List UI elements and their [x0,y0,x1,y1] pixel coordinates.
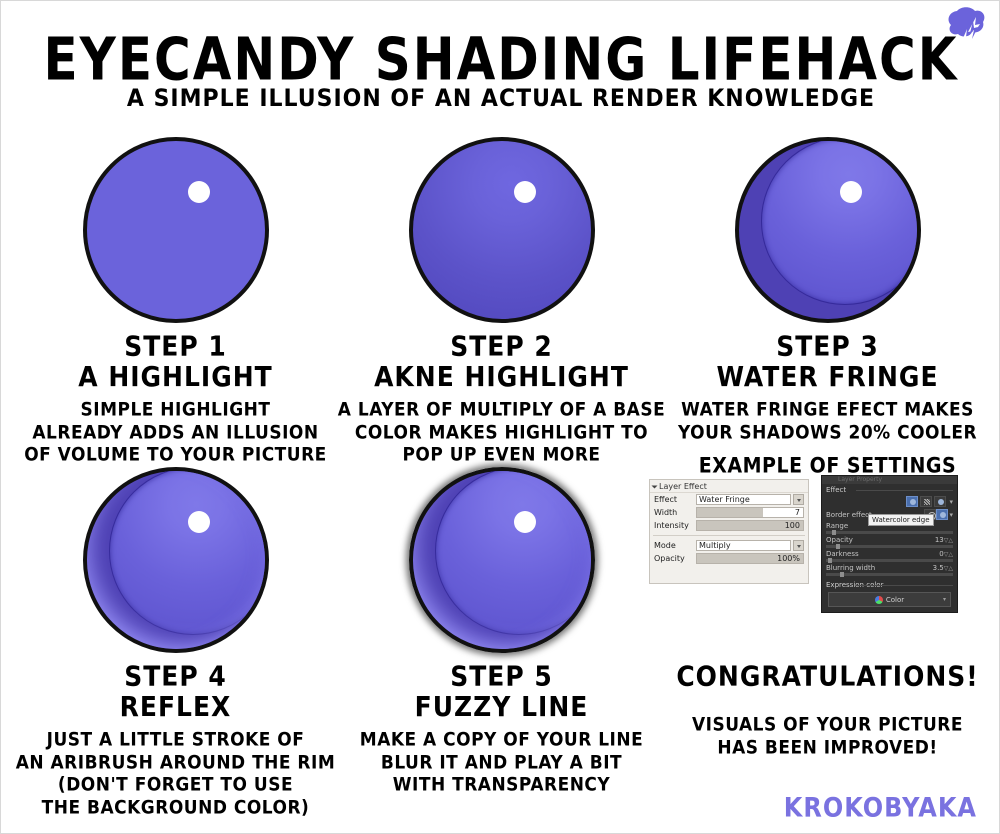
csp-color-dropdown[interactable]: Color ▾ [828,592,951,607]
water-fringe-edge [761,137,921,305]
color-wheel-icon [875,596,883,604]
step-name-5: FUZZY LINE [335,691,668,721]
sai2-opacity-slider[interactable]: 100% [696,553,804,564]
csp-layer-property-panel[interactable]: Layer Property Effect ▾ Border effect ▾ … [821,475,958,613]
sphere-illustration-5 [335,463,668,659]
step-card-4: STEP 4 REFLEX JUST A LITTLE STROKE OF AN… [9,463,342,812]
watercolor-edge-tooltip: Watercolor edge [868,514,934,526]
step-description-2: A LAYER OF MULTIPLY OF A BASE COLOR MAKE… [335,399,668,467]
outro-title: CONGRATULATIONS! [661,661,994,691]
step-name-4: REFLEX [9,691,342,721]
page-title: EYECANDY SHADING LIFEHACK [1,25,1000,93]
csp-effect-icon-row[interactable]: ▾ [822,494,957,507]
sai2-opacity-value: 100% [777,554,800,563]
sphere-flat-base [83,137,269,323]
chevron-down-icon[interactable]: ▾ [943,596,946,603]
watercolor-edge-icon[interactable] [936,509,948,520]
sphere-illustration-2 [335,133,668,329]
csp-blurring-value[interactable]: 3.5▽△ [933,564,953,572]
spinner-icon: ▽△ [944,551,953,558]
chevron-down-icon[interactable] [793,540,804,551]
sai2-effect-select[interactable]: Water Fringe [696,494,791,505]
sai2-mode-select[interactable]: Multiply [696,540,791,551]
step-title-2: STEP 2 AKNE HIGHLIGHT [335,331,668,391]
step-number-3: STEP 3 [661,331,994,361]
sai2-opacity-label: Opacity [654,554,696,563]
step-card-2: STEP 2 AKNE HIGHLIGHT A LAYER OF MULTIPL… [335,133,668,461]
layer-color-icon[interactable] [934,496,946,507]
sai2-width-slider[interactable]: 7 [696,507,804,518]
step-title-1: STEP 1 A HIGHLIGHT [9,331,342,391]
step-title-3: STEP 3 WATER FRINGE [661,331,994,391]
step-number-1: STEP 1 [9,331,342,361]
sai2-intensity-value: 100 [785,521,800,530]
step-card-5: STEP 5 FUZZY LINE MAKE A COPY OF YOUR LI… [335,463,668,791]
sphere-multiply-highlight [409,137,595,323]
csp-expression-color-label: Expression color [826,581,953,589]
step-number-4: STEP 4 [9,661,342,691]
sai2-opacity-row[interactable]: Opacity 100% [650,552,808,565]
sphere-water-fringe [735,137,921,323]
sai2-mode-label: Mode [654,541,696,550]
sphere-illustration-4 [9,463,342,659]
csp-effect-label: Effect [826,486,953,494]
csp-opacity-row[interactable]: Opacity 13▽△ [822,534,957,544]
step-card-3: STEP 3 WATER FRINGE WATER FRINGE EFECT M… [661,133,994,499]
highlight-dot [188,511,210,533]
spinner-icon: ▽△ [944,565,953,572]
sai2-width-row[interactable]: Width 7 [650,506,808,519]
page-subtitle: A SIMPLE ILLUSION OF AN ACTUAL RENDER KN… [1,85,1000,113]
sai2-mode-row[interactable]: Mode Multiply [650,539,808,552]
sai2-width-value: 7 [795,508,800,517]
sai2-width-label: Width [654,508,696,517]
sai2-effect-row[interactable]: Effect Water Fringe [650,493,808,506]
step-description-4: JUST A LITTLE STROKE OF AN ARIBRUSH AROU… [9,729,342,820]
sai2-intensity-slider[interactable]: 100 [696,520,804,531]
chevron-down-icon[interactable]: ▾ [949,498,953,506]
step-description-3: WATER FRINGE EFECT MAKES YOUR SHADOWS 20… [661,399,994,445]
water-fringe-edge [109,467,269,635]
step-name-3: WATER FRINGE [661,361,994,391]
step-name-1: A HIGHLIGHT [9,361,342,391]
sphere-illustration-1 [9,133,342,329]
csp-blurring-row[interactable]: Blurring width 3.5▽△ [822,562,957,572]
csp-opacity-label: Opacity [826,536,935,544]
csp-blurring-label: Blurring width [826,564,933,572]
sai2-divider [653,535,805,536]
sphere-illustration-3 [661,133,994,329]
csp-effect-section: Effect [822,484,957,494]
step-card-1: STEP 1 A HIGHLIGHT SIMPLE HIGHLIGHT ALRE… [9,133,342,461]
chevron-down-icon[interactable] [793,494,804,505]
water-fringe-edge [435,467,595,635]
sphere-fuzzy-line [409,467,595,653]
sai2-layer-effect-panel[interactable]: Layer Effect Effect Water Fringe Width 7… [649,479,809,584]
csp-titlebar[interactable]: Layer Property [822,476,957,484]
csp-color-button-label: Color [886,596,904,604]
step-name-2: AKNE HIGHLIGHT [335,361,668,391]
sai2-effect-label: Effect [654,495,696,504]
artist-signature: KROKOBYAKA [784,792,977,823]
highlight-dot [840,181,862,203]
highlight-dot [514,511,536,533]
step-title-4: STEP 4 REFLEX [9,661,342,721]
collapse-triangle-icon[interactable] [652,485,658,488]
step-number-2: STEP 2 [335,331,668,361]
csp-darkness-value[interactable]: 0▽△ [939,550,953,558]
sai2-intensity-label: Intensity [654,521,696,530]
csp-blurring-slider[interactable] [826,573,953,576]
chevron-down-icon[interactable]: ▾ [949,511,953,519]
step-description-1: SIMPLE HIGHLIGHT ALREADY ADDS AN ILLUSIO… [9,399,342,467]
sai2-panel-header[interactable]: Layer Effect [650,480,808,493]
csp-darkness-label: Darkness [826,550,939,558]
tone-icon[interactable] [920,496,932,507]
infographic-page: EYECANDY SHADING LIFEHACK A SIMPLE ILLUS… [0,0,1000,834]
spinner-icon: ▽△ [944,537,953,544]
highlight-dot [514,181,536,203]
outro-description: VISUALS OF YOUR PICTURE HAS BEEN IMPROVE… [661,714,994,760]
highlight-dot [188,181,210,203]
step-description-5: MAKE A COPY OF YOUR LINE BLUR IT AND PLA… [335,729,668,797]
sai2-intensity-row[interactable]: Intensity 100 [650,519,808,532]
csp-expression-color-section: Expression color [822,579,957,589]
border-effect-icon[interactable] [906,496,918,507]
step-number-5: STEP 5 [335,661,668,691]
step-title-5: STEP 5 FUZZY LINE [335,661,668,721]
csp-darkness-row[interactable]: Darkness 0▽△ [822,548,957,558]
sphere-reflex [83,467,269,653]
sai2-panel-title: Layer Effect [659,482,707,491]
csp-opacity-value[interactable]: 13▽△ [935,536,953,544]
